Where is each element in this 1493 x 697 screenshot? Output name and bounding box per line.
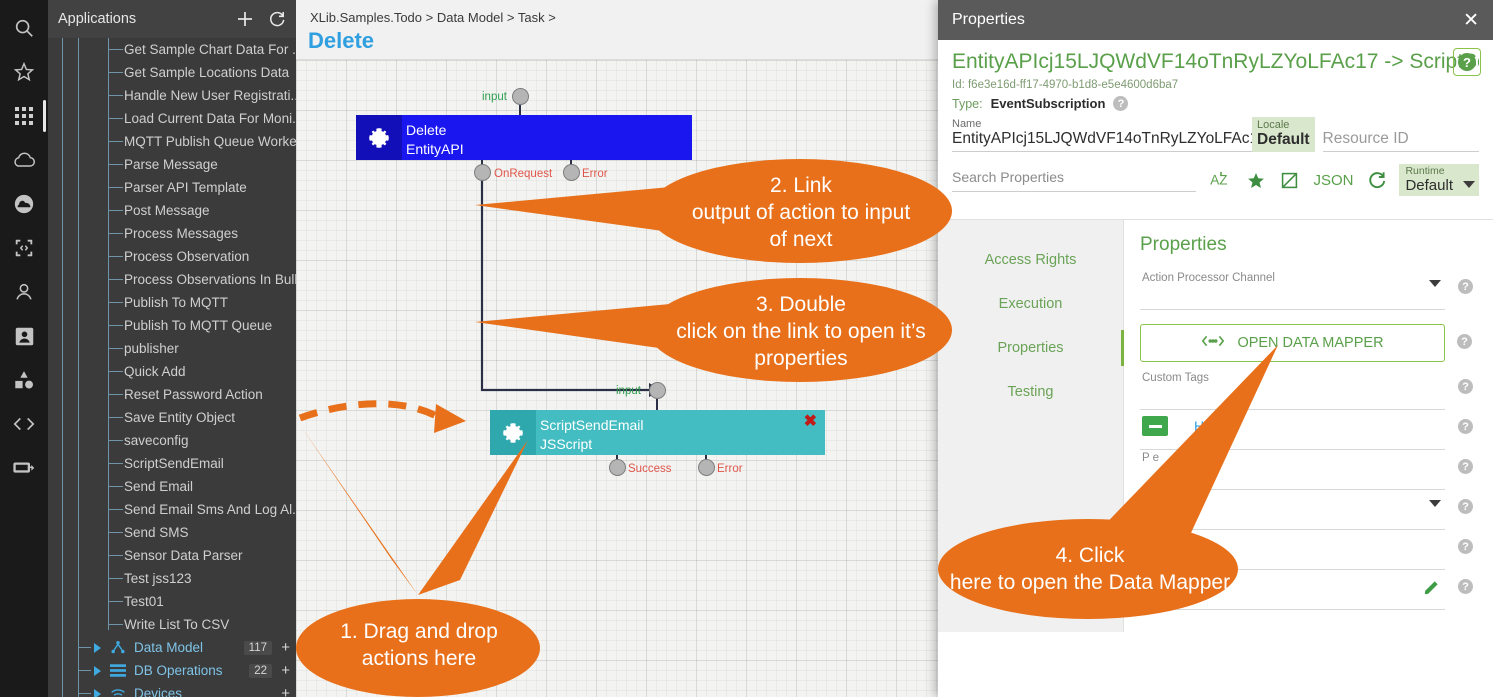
- node-subtitle: JSScript: [540, 435, 817, 454]
- node-output-label-success: Success: [628, 463, 671, 475]
- tree-leaf-4[interactable]: MQTT Publish Queue Worker: [48, 130, 296, 153]
- svg-text:A: A: [1211, 173, 1220, 188]
- tree-leaf-20[interactable]: Send Email Sms And Log Al...: [48, 498, 296, 521]
- help-icon[interactable]: ?: [1457, 334, 1472, 349]
- tree-leaf-label: Process Observations In Bulk: [124, 272, 296, 287]
- properties-panel-title: Properties: [952, 11, 1463, 29]
- tree-leaf-label: Test jss123: [124, 571, 192, 586]
- properties-panel-header: Properties ✕: [938, 0, 1493, 40]
- process-flow-canvas[interactable]: input Delete EntityAPI OnRequest Error i…: [296, 60, 940, 697]
- properties-identity: EntityAPIcj15LJQWdVF14oTnRyLZYoLFAc17 ->…: [938, 40, 1493, 111]
- help-icon[interactable]: ?: [1458, 579, 1473, 594]
- entity-name: EntityAPIcj15LJQWdVF14oTnRyLZYoLFAc17 ->…: [952, 50, 1479, 74]
- sidebar-title: Applications: [58, 11, 222, 27]
- toggle-checkbox[interactable]: [1142, 416, 1168, 436]
- star-icon[interactable]: [1246, 171, 1266, 190]
- properties-nav: Access Rights Execution Properties Testi…: [938, 220, 1124, 632]
- tree-leaf-21[interactable]: Send SMS: [48, 521, 296, 544]
- node-input-port-delete[interactable]: [512, 88, 529, 105]
- nav-label: Execution: [999, 296, 1063, 312]
- expand-arrow-icon[interactable]: [94, 666, 101, 676]
- screen-share-icon[interactable]: [0, 446, 48, 490]
- node-text: ScriptSendEmail JSScript: [536, 410, 825, 455]
- add-icon[interactable]: +: [281, 642, 290, 654]
- properties-content: Properties Action Processor Channel ? OP…: [1124, 220, 1493, 632]
- node-scriptsendemail[interactable]: ScriptSendEmail JSScript ✖: [490, 410, 825, 455]
- tree-branch-data-model[interactable]: Data Model117+: [48, 636, 296, 659]
- add-icon[interactable]: +: [281, 665, 290, 677]
- help-icon[interactable]: ?: [1458, 539, 1473, 554]
- node-input-port-script[interactable]: [649, 382, 666, 399]
- expand-arrow-icon[interactable]: [94, 643, 101, 653]
- tree-leaf-19[interactable]: Send Email: [48, 475, 296, 498]
- tree-leaf-3[interactable]: Load Current Data For Moni...: [48, 107, 296, 130]
- tree-leaf-label: Get Sample Locations Data: [124, 65, 289, 80]
- page-title: Delete: [308, 28, 374, 54]
- tree-leaf-14[interactable]: Quick Add: [48, 360, 296, 383]
- nav-item-access-rights[interactable]: Access Rights: [938, 238, 1123, 282]
- entity-id: Id: f6e3e16d-ff17-4970-b1d8-e5e4600d6ba7: [952, 79, 1479, 91]
- mapper-icon: [1201, 334, 1225, 352]
- nav-item-properties[interactable]: Properties: [938, 326, 1123, 370]
- contact-card-icon[interactable]: [0, 314, 48, 358]
- node-output-port-error[interactable]: [563, 164, 580, 181]
- tree-leaf-label: Load Current Data For Moni...: [124, 111, 296, 126]
- tree-leaf-label: Save Entity Object: [124, 410, 235, 425]
- name-field[interactable]: Name EntityAPIcj15LJQWdVF14oTnRyLZYoLFAc…: [952, 118, 1252, 152]
- tree-leaf-1[interactable]: Get Sample Locations Data: [48, 61, 296, 84]
- nav-item-execution[interactable]: Execution: [938, 282, 1123, 326]
- tree-branch-db-operations[interactable]: DB Operations22+: [48, 659, 296, 682]
- tree-leaf-label: Reset Password Action: [124, 387, 263, 402]
- tree-leaf-23[interactable]: Test jss123: [48, 567, 296, 590]
- field-label: Custom Tags: [1142, 372, 1209, 384]
- tree-leaf-label: MQTT Publish Queue Worker: [124, 134, 296, 149]
- tree-leaf-label: Process Messages: [124, 226, 238, 241]
- tree-leaf-label: Handle New User Registrati...: [124, 88, 296, 103]
- add-application-button[interactable]: [236, 10, 254, 28]
- runtime-label: Runtime: [1405, 165, 1453, 177]
- gear-icon: [356, 115, 402, 160]
- field-help-toggle[interactable]: Help ?: [1140, 410, 1445, 450]
- field-label: Action Processor Channel: [1142, 272, 1275, 284]
- applications-sidebar: Applications Get Sample Chart Data For .…: [48, 0, 296, 697]
- help-icon[interactable]: ?: [1113, 96, 1128, 111]
- locale-field-label: Locale: [1257, 119, 1310, 131]
- chevron-down-icon[interactable]: [1429, 500, 1441, 507]
- field-obscured-text[interactable]: P e ?: [1140, 450, 1445, 490]
- field-label: P e: [1142, 452, 1159, 464]
- tree-leaf-label: Test01: [124, 594, 164, 609]
- tree-leaf-label: publisher: [124, 341, 179, 356]
- properties-search-row: Search Properties AZ JSON Runtime Defaul…: [938, 152, 1493, 196]
- tree-leaf-12[interactable]: Publish To MQTT Queue: [48, 314, 296, 337]
- tree-leaf-label: Send SMS: [124, 525, 189, 540]
- tree-leaf-label: Get Sample Chart Data For ...: [124, 42, 296, 57]
- help-button[interactable]: ?: [1453, 48, 1481, 76]
- hierarchy-icon: [110, 640, 126, 655]
- locale-field-value: Default: [1257, 131, 1310, 149]
- field-custom-tags[interactable]: Custom Tags ?: [1140, 370, 1445, 410]
- node-output-port-onrequest[interactable]: [474, 164, 491, 181]
- mapper-label: OPEN DATA MAPPER: [1237, 335, 1383, 351]
- sidebar-tree[interactable]: Get Sample Chart Data For ...Get Sample …: [48, 38, 296, 697]
- code-brackets-icon[interactable]: [0, 226, 48, 270]
- shapes-icon[interactable]: [0, 358, 48, 402]
- tree-leaf-15[interactable]: Reset Password Action: [48, 383, 296, 406]
- resource-id-field[interactable]: Resource ID: [1323, 118, 1479, 152]
- sort-az-icon[interactable]: AZ: [1210, 171, 1232, 189]
- tree-branch-devices[interactable]: Devices+: [48, 682, 296, 697]
- tree-leaf-label: ScriptSendEmail: [124, 456, 224, 471]
- tree-leaf-label: Quick Add: [124, 364, 186, 379]
- node-title: Delete: [406, 121, 684, 140]
- active-indicator: [43, 100, 46, 132]
- tree-leaf-6[interactable]: Parser API Template: [48, 176, 296, 199]
- field-editable[interactable]: ?: [1140, 570, 1445, 610]
- nav-label: Access Rights: [985, 252, 1077, 268]
- search-icon[interactable]: [0, 6, 48, 50]
- application-window: Applications Get Sample Chart Data For .…: [0, 0, 1493, 697]
- tree-leaf-13[interactable]: publisher: [48, 337, 296, 360]
- resource-id-placeholder: Resource ID: [1323, 130, 1479, 148]
- node-text: Delete EntityAPI: [402, 115, 692, 160]
- node-close-icon[interactable]: ✖: [804, 414, 817, 430]
- type-value: EventSubscription: [991, 96, 1106, 111]
- cloud-outline-icon[interactable]: [0, 138, 48, 182]
- nav-item-testing[interactable]: Testing: [938, 370, 1123, 414]
- item-count-badge: 117: [244, 641, 272, 655]
- gear-icon: [490, 410, 536, 455]
- tree-leaf-list: Get Sample Chart Data For ...Get Sample …: [48, 38, 296, 636]
- breadcrumb[interactable]: XLib.Samples.Todo > Data Model > Task >: [310, 10, 556, 25]
- node-output-label-error: Error: [582, 168, 608, 180]
- user-outline-icon[interactable]: [0, 270, 48, 314]
- icon-rail: [0, 0, 48, 697]
- tree-leaf-10[interactable]: Process Observations In Bulk: [48, 268, 296, 291]
- json-icon[interactable]: JSON: [1313, 172, 1353, 189]
- tree-leaf-11[interactable]: Publish To MQTT: [48, 291, 296, 314]
- search-input[interactable]: Search Properties: [952, 169, 1196, 192]
- field-link-label[interactable]: Help: [1194, 418, 1223, 434]
- refresh-button[interactable]: [268, 10, 286, 28]
- tree-leaf-label: Write List To CSV: [124, 617, 229, 632]
- field-label: tion Mode: [1142, 492, 1193, 504]
- identity-fields: Name EntityAPIcj15LJQWdVF14oTnRyLZYoLFAc…: [938, 111, 1493, 152]
- help-icon[interactable]: ?: [1458, 419, 1473, 434]
- chevron-down-icon[interactable]: [1429, 280, 1441, 287]
- tree-leaf-25[interactable]: Write List To CSV: [48, 613, 296, 636]
- properties-panel: Properties ✕ EntityAPIcj15LJQWdVF14oTnRy…: [938, 0, 1493, 697]
- node-title: ScriptSendEmail: [540, 416, 817, 435]
- tree-leaf-24[interactable]: Test01: [48, 590, 296, 613]
- help-icon[interactable]: ?: [1458, 379, 1473, 394]
- tree-leaf-label: Parser API Template: [124, 180, 247, 195]
- properties-body: Access Rights Execution Properties Testi…: [938, 219, 1493, 632]
- node-output-label-error-script: Error: [717, 463, 743, 475]
- section-title: Properties: [1140, 234, 1479, 256]
- name-field-value: EntityAPIcj15LJQWdVF14oTnRyLZYoLFAc17: [952, 130, 1252, 148]
- sidebar-header: Applications: [48, 0, 296, 38]
- cloud-filled-icon[interactable]: [0, 182, 48, 226]
- nav-label: Properties: [997, 340, 1063, 356]
- open-data-mapper-button[interactable]: OPEN DATA MAPPER ?: [1140, 324, 1445, 362]
- angle-brackets-icon[interactable]: [0, 402, 48, 446]
- node-delete[interactable]: Delete EntityAPI: [356, 115, 692, 160]
- tree-leaf-7[interactable]: Post Message: [48, 199, 296, 222]
- applications-grid-icon[interactable]: [0, 94, 48, 138]
- tree-connector: [79, 670, 91, 671]
- tree-leaf-8[interactable]: Process Messages: [48, 222, 296, 245]
- wifi-icon: [110, 687, 126, 697]
- node-output-label-onrequest: OnRequest: [494, 168, 552, 180]
- field-action-processor-channel[interactable]: Action Processor Channel ?: [1140, 270, 1445, 310]
- nav-label: Testing: [1008, 384, 1054, 400]
- tree-leaf-label: Post Message: [124, 203, 210, 218]
- help-icon[interactable]: ?: [1458, 459, 1473, 474]
- node-output-port-error-script[interactable]: [698, 459, 715, 476]
- chevron-down-icon: [1463, 181, 1475, 188]
- add-icon[interactable]: +: [281, 688, 290, 697]
- tree-leaf-label: Publish To MQTT Queue: [124, 318, 272, 333]
- locale-field[interactable]: Locale Default: [1252, 117, 1315, 152]
- expand-arrow-icon[interactable]: [94, 689, 101, 697]
- field-blank-1[interactable]: ?: [1140, 530, 1445, 570]
- runtime-selector[interactable]: Runtime Default: [1399, 164, 1479, 196]
- tree-leaf-label: Send Email Sms And Log Al...: [124, 502, 296, 517]
- favorites-icon[interactable]: [0, 50, 48, 94]
- tree-connector: [79, 693, 91, 694]
- tree-leaf-label: Process Observation: [124, 249, 249, 264]
- tree-leaf-18[interactable]: ScriptSendEmail: [48, 452, 296, 475]
- tree-leaf-label: Sensor Data Parser: [124, 548, 243, 563]
- resource-id-spacer: [1323, 118, 1479, 130]
- tree-leaf-5[interactable]: Parse Message: [48, 153, 296, 176]
- tree-branch-list: Data Model117+DB Operations22+Devices+: [48, 636, 296, 697]
- entity-type-row: Type: EventSubscription ?: [952, 96, 1479, 111]
- tree-leaf-0[interactable]: Get Sample Chart Data For ...: [48, 38, 296, 61]
- close-icon[interactable]: ✕: [1463, 11, 1479, 30]
- help-icon[interactable]: ?: [1458, 499, 1473, 514]
- tree-leaf-label: Parse Message: [124, 157, 218, 172]
- tree-branch-label: DB Operations: [48, 663, 223, 678]
- node-input-label-delete: input: [482, 91, 507, 103]
- tree-leaf-17[interactable]: saveconfig: [48, 429, 296, 452]
- refresh-icon[interactable]: [1367, 170, 1387, 190]
- tree-leaf-2[interactable]: Handle New User Registrati...: [48, 84, 296, 107]
- field-mode-select[interactable]: tion Mode ?: [1140, 490, 1445, 530]
- tree-leaf-22[interactable]: Sensor Data Parser: [48, 544, 296, 567]
- tree-leaf-9[interactable]: Process Observation: [48, 245, 296, 268]
- node-output-port-success[interactable]: [609, 459, 626, 476]
- edit-pencil-icon[interactable]: [1423, 578, 1441, 601]
- runtime-value: Default: [1405, 177, 1453, 194]
- tree-leaf-label: saveconfig: [124, 433, 189, 448]
- name-field-label: Name: [952, 118, 1252, 130]
- tree-leaf-16[interactable]: Save Entity Object: [48, 406, 296, 429]
- node-input-label-script: input: [616, 385, 641, 397]
- type-key: Type:: [952, 97, 983, 111]
- help-icon: ?: [1458, 53, 1476, 71]
- clear-filter-icon[interactable]: [1280, 171, 1299, 190]
- tree-connector: [79, 647, 91, 648]
- tree-leaf-label: Publish To MQTT: [124, 295, 228, 310]
- tree-leaf-label: Send Email: [124, 479, 193, 494]
- node-subtitle: EntityAPI: [406, 140, 684, 159]
- list-icon: [110, 663, 126, 678]
- help-icon[interactable]: ?: [1458, 279, 1473, 294]
- item-count-badge: 22: [249, 664, 272, 678]
